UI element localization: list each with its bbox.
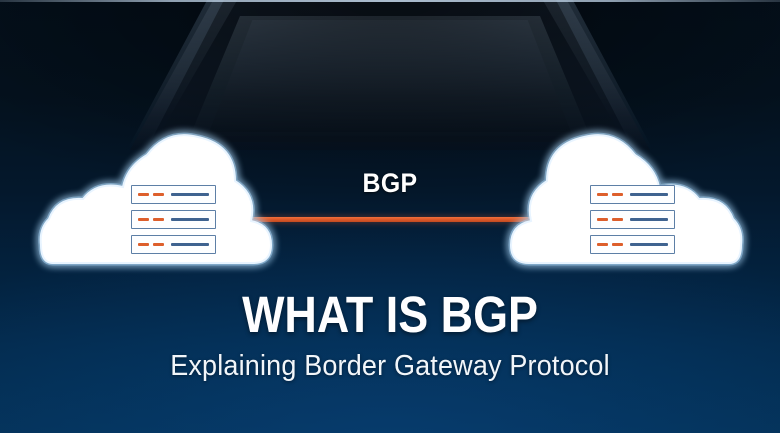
rack-unit [590,235,675,254]
status-dash-orange [153,243,164,245]
rack-unit [131,235,216,254]
status-line-blue [630,218,668,220]
status-line-blue [171,218,209,220]
infographic-canvas: BGP WHAT IS BGP Explaining Border Gatewa… [0,0,780,433]
status-dash-orange [612,218,623,220]
status-dash-orange [138,218,149,220]
status-line-blue [630,243,668,245]
rack-unit [131,210,216,229]
status-dash-orange [597,218,608,220]
status-dash-orange [138,243,149,245]
top-edge-highlight [0,0,780,2]
page-title: WHAT IS BGP [47,289,733,340]
status-dash-orange [597,243,608,245]
status-dash-orange [153,218,164,220]
page-subtitle: Explaining Border Gateway Protocol [27,352,752,381]
protocol-label-text: BGP [363,168,418,199]
rack-unit [590,210,675,229]
status-dash-orange [612,243,623,245]
protocol-label: BGP [31,168,749,199]
status-line-blue [171,243,209,245]
